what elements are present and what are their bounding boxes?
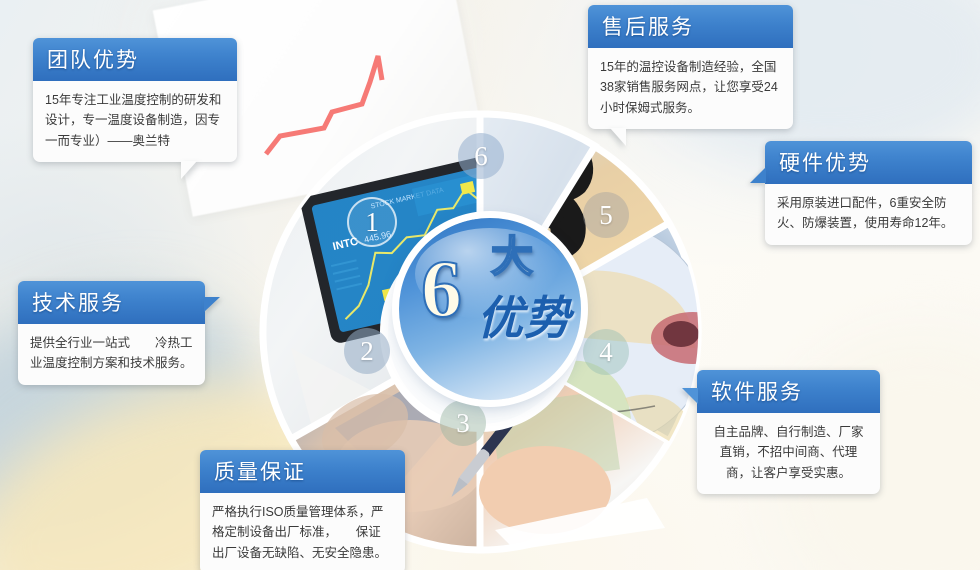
callout-software-body: 自主品牌、自行制造、厂家直销，不招中间商、代理商，让客户享受实惠。 [697, 413, 880, 494]
callout-technical-tail [204, 297, 220, 312]
callout-quality-title: 质量保证 [200, 450, 405, 493]
segment-badge-4[interactable]: 4 [583, 329, 629, 375]
callout-team-body: 15年专注工业温度控制的研发和设计，专一温度设备制造，因专一而专业）——奥兰特 [33, 81, 237, 162]
callout-hardware[interactable]: 硬件优势 采用原装进口配件，6重安全防火、防爆装置，使用寿命12年。 [765, 141, 972, 245]
callout-team-tail [181, 161, 197, 179]
hub-word: 优势 [477, 296, 571, 342]
callout-hardware-body: 采用原装进口配件，6重安全防火、防爆装置，使用寿命12年。 [765, 184, 972, 245]
infographic-canvas: STOCK MARKET DATA INTC 445.96 [0, 0, 980, 570]
callout-software-title: 软件服务 [697, 370, 880, 413]
callout-software[interactable]: 软件服务 自主品牌、自行制造、厂家直销，不招中间商、代理商，让客户享受实惠。 [697, 370, 880, 494]
callout-technical-body: 提供全行业一站式 冷热工业温度控制方案和技术服务。 [18, 324, 205, 385]
callout-team-title: 团队优势 [33, 38, 237, 81]
callout-hardware-tail [750, 167, 766, 183]
segment-badge-1[interactable]: 1 [347, 197, 397, 247]
callout-hardware-title: 硬件优势 [765, 141, 972, 184]
hub-text: 6 大 优势 [399, 218, 581, 400]
segment-badge-5[interactable]: 5 [583, 192, 629, 238]
callout-after-sales[interactable]: 售后服务 15年的温控设备制造经验，全国38家销售服务网点，让您享受24小时保姆… [588, 5, 793, 129]
center-hub: 6 大 优势 [399, 218, 581, 400]
callout-technical-title: 技术服务 [18, 281, 205, 324]
callout-quality-body: 严格执行ISO质量管理体系，严格定制设备出厂标准， 保证出厂设备无缺陷、无安全隐… [200, 493, 405, 570]
callout-after-sales-tail [610, 128, 626, 146]
callout-software-tail [682, 388, 698, 404]
hub-number: 6 [421, 248, 462, 330]
callout-quality[interactable]: 质量保证 严格执行ISO质量管理体系，严格定制设备出厂标准， 保证出厂设备无缺陷… [200, 450, 405, 570]
callout-after-sales-body: 15年的温控设备制造经验，全国38家销售服务网点，让您享受24小时保姆式服务。 [588, 48, 793, 129]
segment-badge-6[interactable]: 6 [458, 133, 504, 179]
callout-technical[interactable]: 技术服务 提供全行业一站式 冷热工业温度控制方案和技术服务。 [18, 281, 205, 385]
hub-unit: 大 [491, 236, 533, 278]
segment-badge-2[interactable]: 2 [344, 328, 390, 374]
callout-team[interactable]: 团队优势 15年专注工业温度控制的研发和设计，专一温度设备制造，因专一而专业）—… [33, 38, 237, 162]
callout-after-sales-title: 售后服务 [588, 5, 793, 48]
segment-badge-3[interactable]: 3 [440, 400, 486, 446]
